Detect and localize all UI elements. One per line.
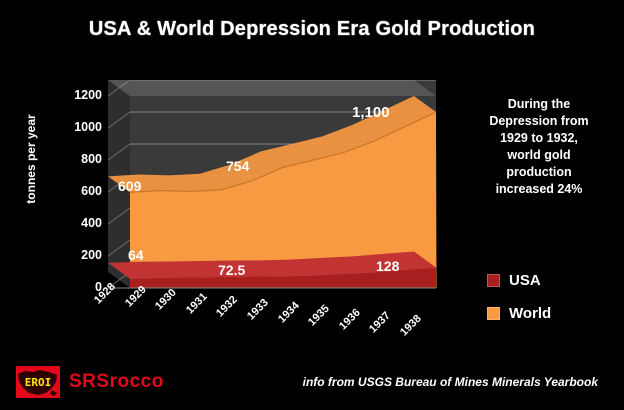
y-axis-tick-label: 1000 (46, 120, 102, 134)
legend-swatch-icon (487, 274, 500, 287)
chart-container: USA & World Depression Era Gold Producti… (0, 0, 624, 410)
annotation-text: During theDepression from1929 to 1932,wo… (464, 96, 614, 198)
y-axis-tick-label: 0 (46, 280, 102, 294)
plot-area (108, 80, 444, 306)
annotation-line: 1929 to 1932, (464, 130, 614, 147)
legend-item-world[interactable]: World (487, 305, 617, 322)
y-axis-tick-labels: 020040060080010001200 (46, 80, 102, 286)
x-axis-tick-label: 1936 (337, 306, 363, 332)
source-note: info from USGS Bureau of Mines Minerals … (303, 375, 598, 389)
legend-label: World (509, 305, 551, 322)
legend-swatch-icon (487, 307, 500, 320)
y-axis-tick-label: 200 (46, 248, 102, 262)
legend: USAWorld (487, 272, 617, 338)
annotation-line: production (464, 164, 614, 181)
chart-title: USA & World Depression Era Gold Producti… (0, 18, 624, 41)
srsrocco-wordmark: SRSrocco (69, 371, 164, 393)
srsrocco-logo[interactable]: EROI SRSrocco (16, 366, 164, 398)
y-axis-title: tonnes per year (24, 104, 38, 214)
y-axis-tick-label: 400 (46, 216, 102, 230)
annotation-line: Depression from (464, 113, 614, 130)
legend-label: USA (509, 272, 541, 289)
series-right-face (436, 112, 437, 288)
eroi-badge-label: EROI (25, 376, 52, 389)
legend-item-usa[interactable]: USA (487, 272, 617, 289)
eroi-badge: EROI (16, 366, 60, 398)
y-axis-tick-label: 1200 (46, 88, 102, 102)
annotation-line: increased 24% (464, 181, 614, 198)
plot-svg (108, 80, 444, 306)
annotation-line: During the (464, 96, 614, 113)
annotation-line: world gold (464, 147, 614, 164)
chart-top-edge (108, 80, 436, 96)
footer: EROI SRSrocco info from USGS Bureau of M… (0, 358, 624, 410)
y-axis-tick-label: 600 (46, 184, 102, 198)
x-axis-tick-label: 1937 (367, 309, 393, 335)
y-axis-tick-label: 800 (46, 152, 102, 166)
x-axis-tick-label: 1935 (306, 303, 332, 329)
x-axis-tick-label: 1938 (398, 313, 424, 339)
